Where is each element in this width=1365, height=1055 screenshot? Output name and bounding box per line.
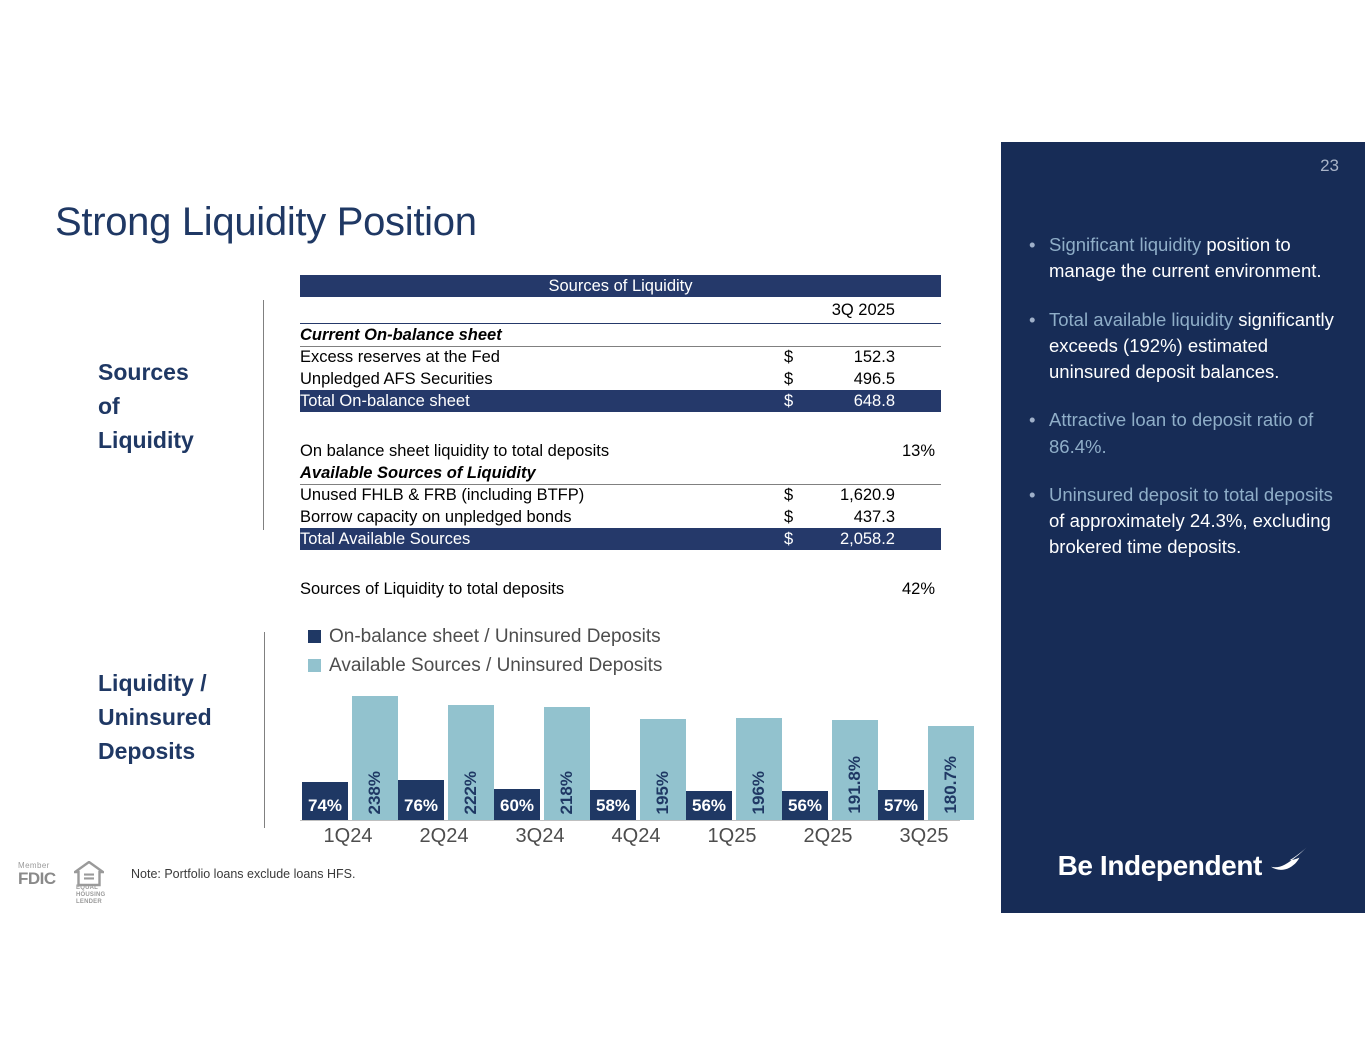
bar-3Q24-series1[interactable]: 218% xyxy=(544,707,590,820)
sources-of-liquidity-table: Sources of Liquidity 3Q 2025 Current On-… xyxy=(300,275,941,600)
period-header: 3Q 2025 xyxy=(831,297,941,324)
bullet-dot-icon: • xyxy=(1029,407,1035,433)
row-currency: $ xyxy=(784,347,831,369)
section-label-liquidity-line: Liquidity / xyxy=(98,666,212,700)
bar-3Q25-series0[interactable]: 57% xyxy=(878,790,924,820)
total-value: 648.8 xyxy=(831,390,941,412)
section-label-liquidity: Liquidity /UninsuredDeposits xyxy=(98,666,212,768)
bar-group-2Q25: 56%191.8% xyxy=(782,690,878,820)
x-tick-2Q25: 2Q25 xyxy=(780,825,876,848)
bullet-segment-0: Total available liquidity xyxy=(1049,309,1238,330)
period-blank-cell xyxy=(300,297,784,324)
row-label: Borrow capacity on unpledged bonds xyxy=(300,507,784,529)
table-ratio-row: Sources of Liquidity to total deposits 4… xyxy=(300,578,941,600)
x-tick-2Q24: 2Q24 xyxy=(396,825,492,848)
section-label-sources-line: Sources xyxy=(98,355,194,389)
section-label-liquidity-line: Uninsured xyxy=(98,700,212,734)
table-banner: Sources of Liquidity xyxy=(300,275,941,297)
bullet-dot-icon: • xyxy=(1029,232,1035,258)
footnote: Note: Portfolio loans exclude loans HFS. xyxy=(131,867,355,881)
liquidity-uninsured-deposits-chart: On-balance sheet / Uninsured DepositsAva… xyxy=(300,622,960,854)
x-tick-3Q24: 3Q24 xyxy=(492,825,588,848)
legend-label: On-balance sheet / Uninsured Deposits xyxy=(329,626,661,648)
bar-group-1Q24: 74%238% xyxy=(302,690,398,820)
table-spacer xyxy=(300,412,941,440)
row-currency: $ xyxy=(784,507,831,529)
chart-x-axis-labels: 1Q242Q243Q244Q241Q252Q253Q25 xyxy=(300,825,960,855)
bullet-item-3: •Uninsured deposit to total deposits of … xyxy=(1023,482,1345,561)
row-value: 496.5 xyxy=(831,369,941,391)
bar-group-1Q25: 56%196% xyxy=(686,690,782,820)
bar-value-label: 56% xyxy=(692,796,726,816)
bar-2Q25-series0[interactable]: 56% xyxy=(782,791,828,820)
fdic-word-label: FDIC xyxy=(18,869,56,889)
row-value: 1,620.9 xyxy=(831,485,941,507)
bullet-item-2: •Attractive loan to deposit ratio of 86.… xyxy=(1023,407,1345,460)
bullet-dot-icon: • xyxy=(1029,307,1035,333)
total-value: 2,058.2 xyxy=(831,528,941,550)
subhead-spacer-4 xyxy=(831,462,941,485)
brand-lockup: Be Independent xyxy=(1001,846,1365,885)
bar-group-3Q24: 60%218% xyxy=(494,690,590,820)
bar-3Q25-series1[interactable]: 180.7% xyxy=(928,726,974,820)
page-title: Strong Liquidity Position xyxy=(55,200,477,245)
bullet-segment-1: of approximately 24.3%, excluding broker… xyxy=(1049,510,1331,557)
table-row: Borrow capacity on unpledged bonds $ 437… xyxy=(300,507,941,529)
row-label: Unpledged AFS Securities xyxy=(300,369,784,391)
section-label-sources: SourcesofLiquidity xyxy=(98,355,194,457)
bar-value-label: 195% xyxy=(653,771,673,814)
bar-1Q25-series0[interactable]: 56% xyxy=(686,791,732,820)
legend-label: Available Sources / Uninsured Deposits xyxy=(329,655,662,677)
bar-2Q25-series1[interactable]: 191.8% xyxy=(832,720,878,820)
x-tick-3Q25: 3Q25 xyxy=(876,825,972,848)
bar-value-label: 58% xyxy=(596,796,630,816)
section-divider-top xyxy=(263,300,264,530)
x-tick-1Q25: 1Q25 xyxy=(684,825,780,848)
bar-group-3Q25: 57%180.7% xyxy=(878,690,974,820)
ratio-label: Sources of Liquidity to total deposits xyxy=(300,578,784,600)
bar-value-label: 60% xyxy=(500,796,534,816)
table-row: Unpledged AFS Securities $ 496.5 xyxy=(300,369,941,391)
bar-4Q24-series0[interactable]: 58% xyxy=(590,790,636,820)
equal-housing-lender-label-line: LENDER xyxy=(76,899,108,906)
bullet-list: •Significant liquidity position to manag… xyxy=(1023,232,1345,583)
ratio-spacer xyxy=(784,578,831,600)
table-subhead-row: Current On-balance sheet xyxy=(300,324,941,347)
right-info-panel: 23 •Significant liquidity position to ma… xyxy=(1001,142,1365,913)
subhead-available-sources-of-liquidity: Available Sources of Liquidity xyxy=(300,462,784,485)
bar-1Q25-series1[interactable]: 196% xyxy=(736,718,782,820)
bar-1Q24-series1[interactable]: 238% xyxy=(352,696,398,820)
bullet-segment-0: Significant liquidity xyxy=(1049,234,1206,255)
ratio-value: 42% xyxy=(831,578,941,600)
row-currency: $ xyxy=(784,369,831,391)
period-blank-cell-2 xyxy=(784,297,831,324)
total-label: Total On-balance sheet xyxy=(300,390,784,412)
bar-value-label: 180.7% xyxy=(941,756,961,814)
table-row: Unused FHLB & FRB (including BTFP) $ 1,6… xyxy=(300,485,941,507)
bar-value-label: 222% xyxy=(461,771,481,814)
brand-text: Be Independent xyxy=(1058,850,1262,882)
legend-item-0[interactable]: On-balance sheet / Uninsured Deposits xyxy=(308,622,662,651)
subhead-current-on-balance-sheet: Current On-balance sheet xyxy=(300,324,784,347)
bar-2Q24-series0[interactable]: 76% xyxy=(398,780,444,820)
total-currency: $ xyxy=(784,528,831,550)
legend-item-1[interactable]: Available Sources / Uninsured Deposits xyxy=(308,651,662,680)
row-value: 152.3 xyxy=(831,347,941,369)
bar-value-label: 218% xyxy=(557,771,577,814)
bullet-segment-0: Uninsured deposit to total deposits xyxy=(1049,484,1333,505)
bar-value-label: 56% xyxy=(788,796,822,816)
chart-plot-area: 74%238%76%222%60%218%58%195%56%196%56%19… xyxy=(300,690,960,820)
ratio-label: On balance sheet liquidity to total depo… xyxy=(300,440,784,462)
subhead-spacer-1 xyxy=(784,324,831,347)
subhead-spacer-3 xyxy=(784,462,831,485)
table-total-row: Total Available Sources $ 2,058.2 xyxy=(300,528,941,550)
section-divider-bottom xyxy=(264,632,265,828)
bullet-item-0: •Significant liquidity position to manag… xyxy=(1023,232,1345,285)
equal-housing-lender-label: EQUAL HOUSINGLENDER xyxy=(76,885,108,906)
row-value: 437.3 xyxy=(831,507,941,529)
bar-value-label: 57% xyxy=(884,796,918,816)
total-label: Total Available Sources xyxy=(300,528,784,550)
x-tick-1Q24: 1Q24 xyxy=(300,825,396,848)
fdic-logo: Member FDIC EQUAL HOUSINGLENDER xyxy=(18,861,108,895)
section-label-sources-line: of xyxy=(98,389,194,423)
table-total-row: Total On-balance sheet $ 648.8 xyxy=(300,390,941,412)
ratio-value: 13% xyxy=(831,440,941,462)
bar-1Q24-series0[interactable]: 74% xyxy=(302,782,348,820)
legend-swatch-icon xyxy=(308,659,321,672)
bird-swoosh-icon xyxy=(1268,846,1308,877)
table-row: Excess reserves at the Fed $ 152.3 xyxy=(300,347,941,369)
bar-group-2Q24: 76%222% xyxy=(398,690,494,820)
total-currency: $ xyxy=(784,390,831,412)
bar-3Q24-series0[interactable]: 60% xyxy=(494,789,540,820)
section-label-sources-line: Liquidity xyxy=(98,423,194,457)
legend-swatch-icon xyxy=(308,630,321,643)
chart-legend: On-balance sheet / Uninsured DepositsAva… xyxy=(308,622,662,680)
table-ratio-row: On balance sheet liquidity to total depo… xyxy=(300,440,941,462)
bullet-item-1: •Total available liquidity significantly… xyxy=(1023,307,1345,386)
bar-value-label: 191.8% xyxy=(845,756,865,814)
bar-group-4Q24: 58%195% xyxy=(590,690,686,820)
bar-value-label: 196% xyxy=(749,771,769,814)
slide-root: Strong Liquidity Position SourcesofLiqui… xyxy=(0,0,1365,1055)
table-subhead-row: Available Sources of Liquidity xyxy=(300,462,941,485)
bar-4Q24-series1[interactable]: 195% xyxy=(640,719,686,820)
section-label-liquidity-line: Deposits xyxy=(98,734,212,768)
subhead-spacer-2 xyxy=(831,324,941,347)
x-tick-4Q24: 4Q24 xyxy=(588,825,684,848)
row-currency: $ xyxy=(784,485,831,507)
table-banner-row: Sources of Liquidity xyxy=(300,275,941,297)
bullet-dot-icon: • xyxy=(1029,482,1035,508)
row-label: Excess reserves at the Fed xyxy=(300,347,784,369)
bar-value-label: 76% xyxy=(404,796,438,816)
table-spacer xyxy=(300,550,941,578)
bullet-segment-0: Attractive loan to deposit ratio of 86.4… xyxy=(1049,409,1313,456)
bar-2Q24-series1[interactable]: 222% xyxy=(448,705,494,820)
row-label: Unused FHLB & FRB (including BTFP) xyxy=(300,485,784,507)
table-period-row: 3Q 2025 xyxy=(300,297,941,324)
ratio-spacer xyxy=(784,440,831,462)
bar-value-label: 238% xyxy=(365,771,385,814)
page-number: 23 xyxy=(1320,156,1339,176)
bar-value-label: 74% xyxy=(308,796,342,816)
equal-housing-lender-label-line: EQUAL HOUSING xyxy=(76,885,108,899)
chart-axis-line xyxy=(300,820,960,821)
